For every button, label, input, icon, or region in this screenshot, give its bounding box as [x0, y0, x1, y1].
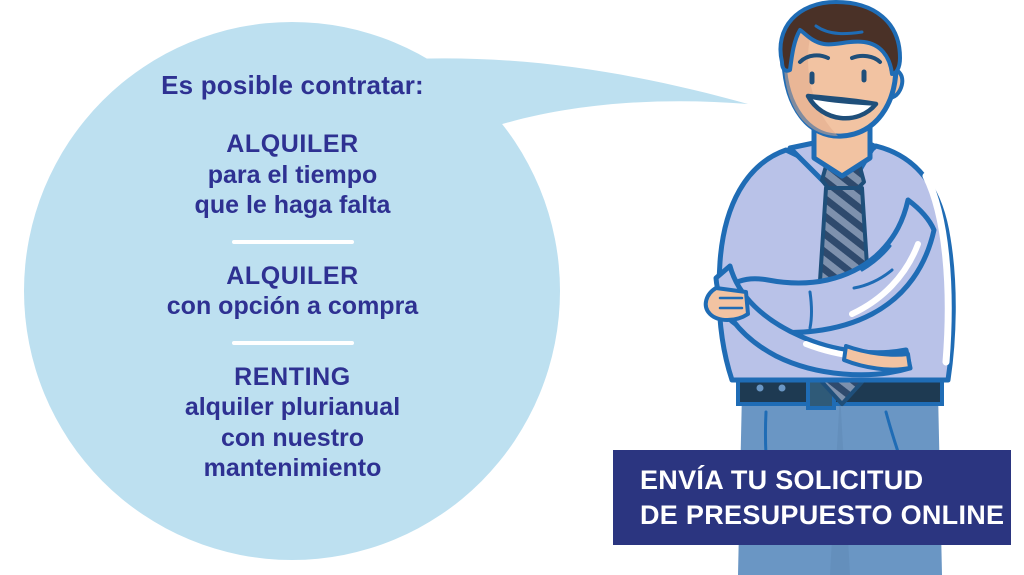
- offer-3-line-1: alquiler plurianual: [25, 392, 560, 423]
- poster-canvas: Es posible contratar: ALQUILER para el t…: [0, 0, 1024, 575]
- offer-2-title: ALQUILER: [25, 261, 560, 292]
- offer-3-line-3: mantenimiento: [25, 453, 560, 484]
- cta-banner-line-2: DE PRESUPUESTO ONLINE: [640, 498, 1004, 533]
- offer-1-title: ALQUILER: [25, 129, 560, 160]
- offer-1-line-2: que le haga falta: [25, 190, 560, 221]
- offer-1-line-1: para el tiempo: [25, 160, 560, 191]
- speech-bubble-text: Es posible contratar: ALQUILER para el t…: [25, 70, 560, 484]
- divider-1: [232, 240, 354, 244]
- offer-3-line-2: con nuestro: [25, 423, 560, 454]
- offer-block-3: RENTING alquiler plurianual con nuestro …: [25, 362, 560, 484]
- offer-2-line-1: con opción a compra: [25, 291, 560, 322]
- bubble-heading: Es posible contratar:: [25, 70, 560, 101]
- cta-banner[interactable]: ENVÍA TU SOLICITUD DE PRESUPUESTO ONLINE: [613, 450, 1011, 545]
- divider-2: [232, 341, 354, 345]
- offer-block-1: ALQUILER para el tiempo que le haga falt…: [25, 129, 560, 221]
- offer-block-2: ALQUILER con opción a compra: [25, 261, 560, 322]
- offer-3-title: RENTING: [25, 362, 560, 393]
- cta-banner-line-1: ENVÍA TU SOLICITUD: [640, 463, 923, 498]
